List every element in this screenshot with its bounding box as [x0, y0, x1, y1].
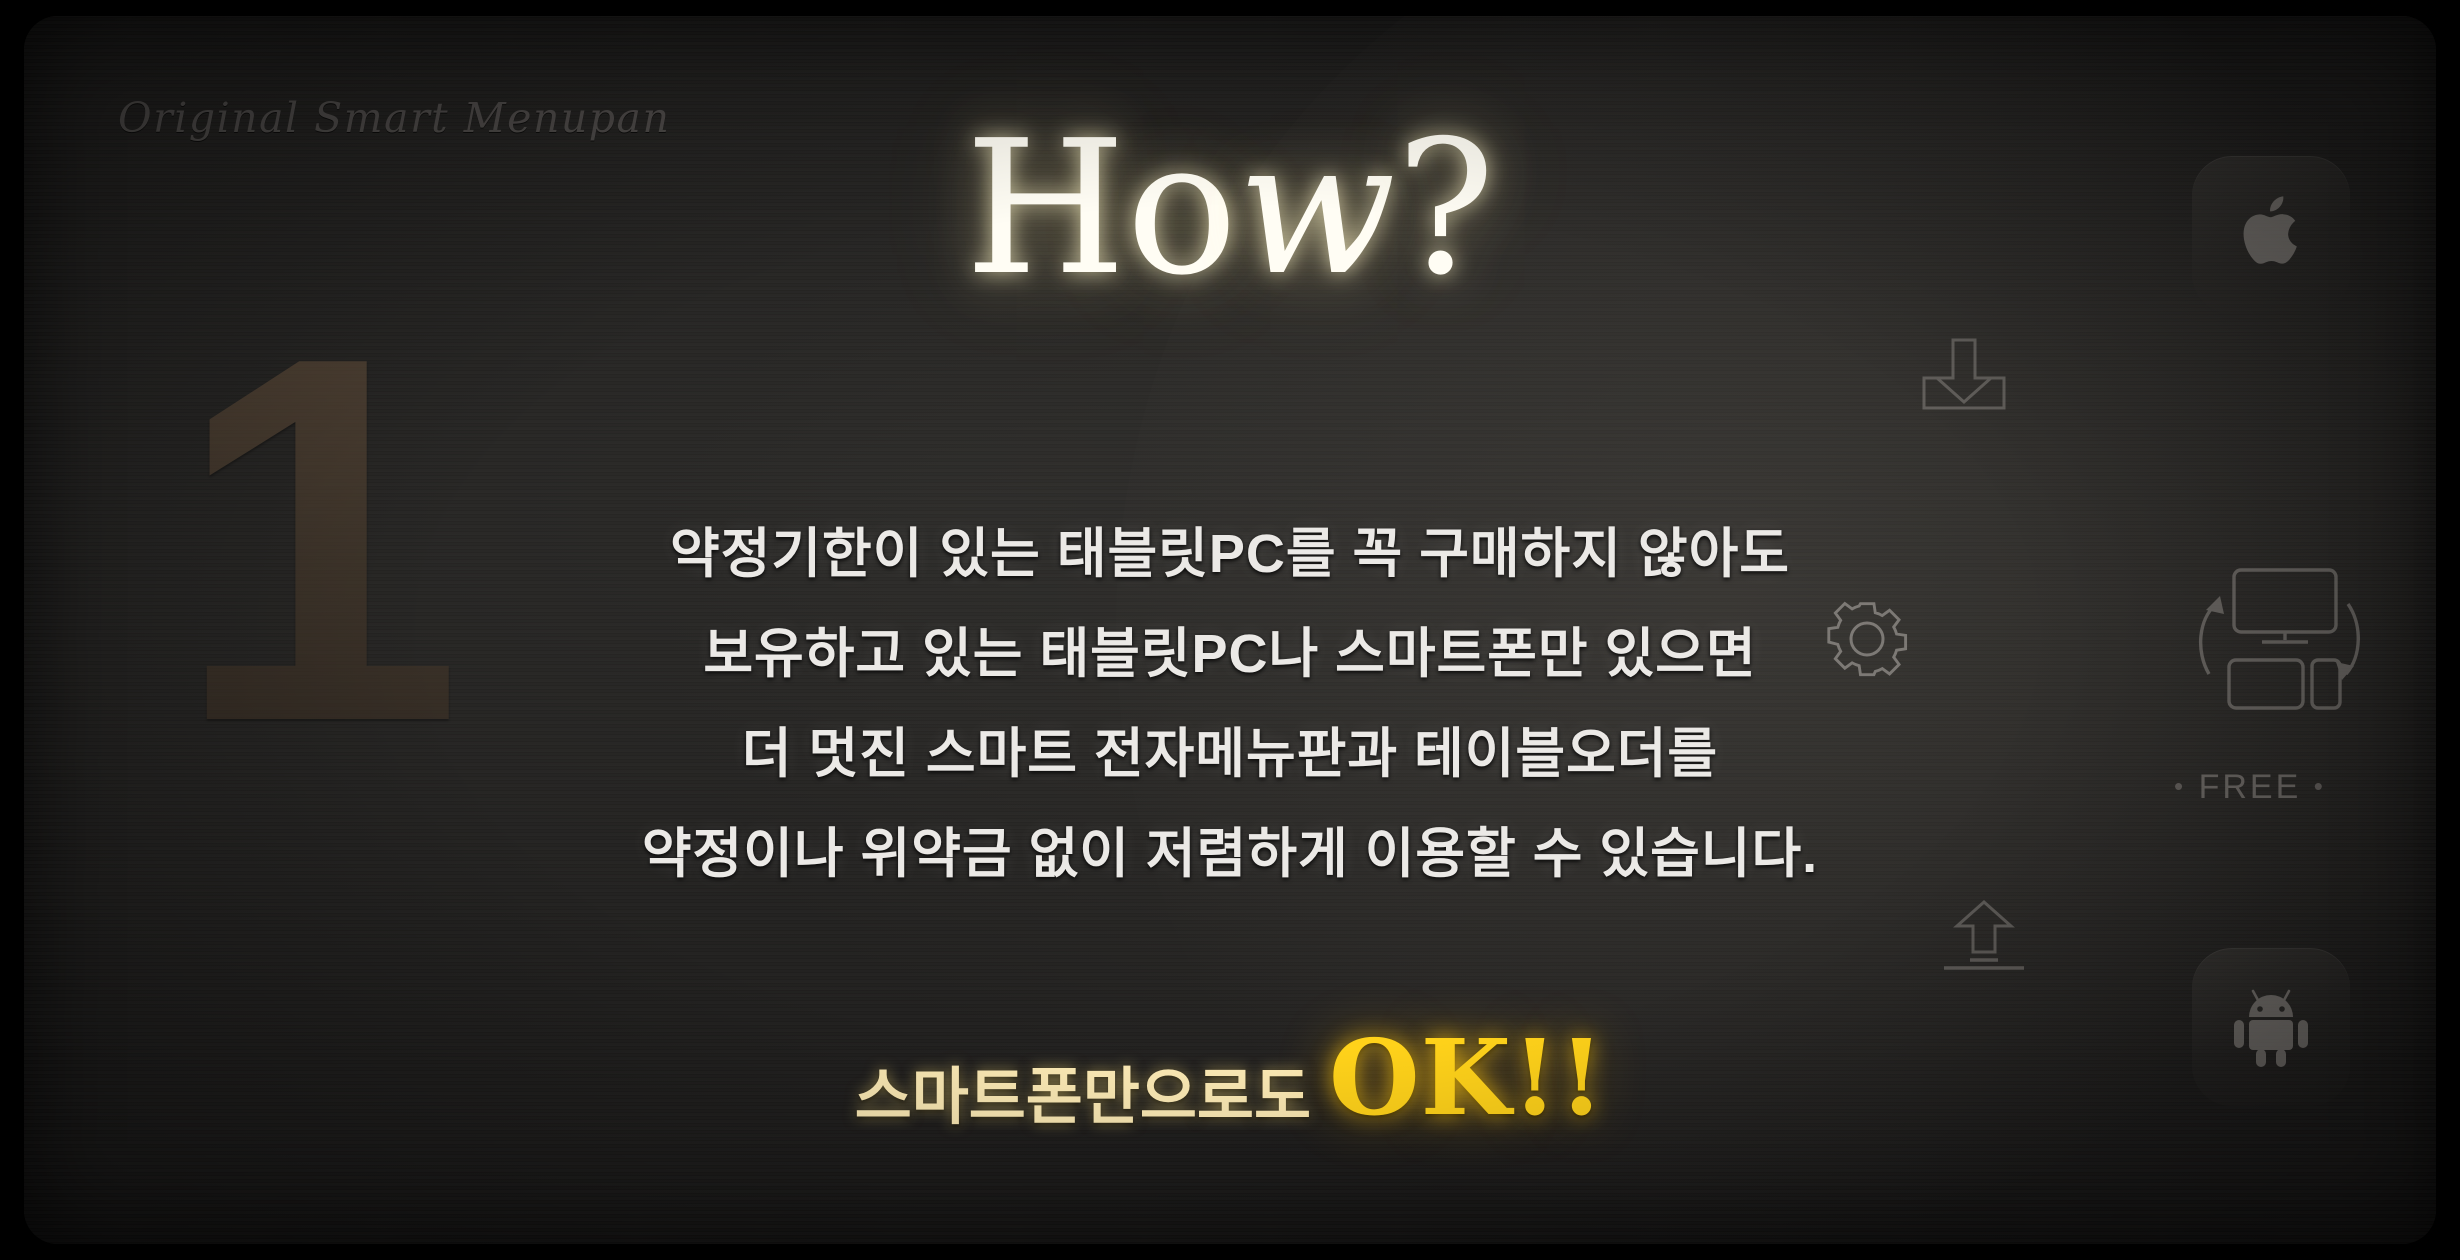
slide-canvas: Original Smart Menupan 1 How? 약정기한이 있는 태… — [0, 0, 2460, 1260]
body-line: 더 멋진 스마트 전자메뉴판과 테이블오더를 — [24, 704, 2436, 804]
headline-main: Ho — [965, 100, 1238, 316]
headline-script-w: w — [1238, 100, 1396, 316]
body-line: 약정이나 위약금 없이 저렴하게 이용할 수 있습니다. — [24, 804, 2436, 904]
body-copy: 약정기한이 있는 태블릿PC를 꼭 구매하지 않아도 보유하고 있는 태블릿PC… — [24, 504, 2436, 904]
download-icon — [1914, 336, 2014, 419]
upload-icon — [1934, 896, 2034, 979]
body-line: 보유하고 있는 태블릿PC나 스마트폰만 있으면 — [24, 604, 2436, 704]
body-line: 약정기한이 있는 태블릿PC를 꼭 구매하지 않아도 — [24, 504, 2436, 604]
brushed-metal-panel: Original Smart Menupan 1 How? 약정기한이 있는 태… — [24, 16, 2436, 1244]
highlight-prefix: 스마트폰만으로도 — [855, 1063, 1311, 1132]
headline-question-mark: ? — [1396, 100, 1495, 316]
highlight-emphasis: OK!! — [1329, 1016, 1605, 1139]
highlight-line: 스마트폰만으로도OK!! — [24, 1016, 2436, 1139]
page-title: How? — [24, 116, 2436, 301]
